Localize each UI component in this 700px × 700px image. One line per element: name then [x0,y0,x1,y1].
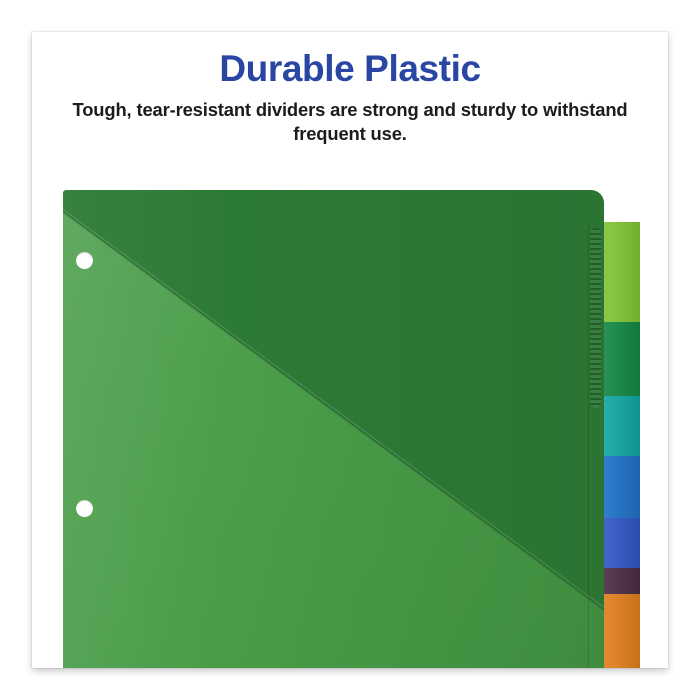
reinforced-rib-strip [590,228,601,408]
binder-hole-top [76,252,93,269]
binding-edge-line [588,222,589,668]
binder-hole-bottom [76,500,93,517]
divider-illustration [32,32,668,668]
divider-sheet [63,190,604,668]
product-card: Durable Plastic Tough, tear-resistant di… [32,32,668,668]
pocket-fold-line [63,190,604,668]
product-image-canvas: Durable Plastic Tough, tear-resistant di… [0,0,700,700]
